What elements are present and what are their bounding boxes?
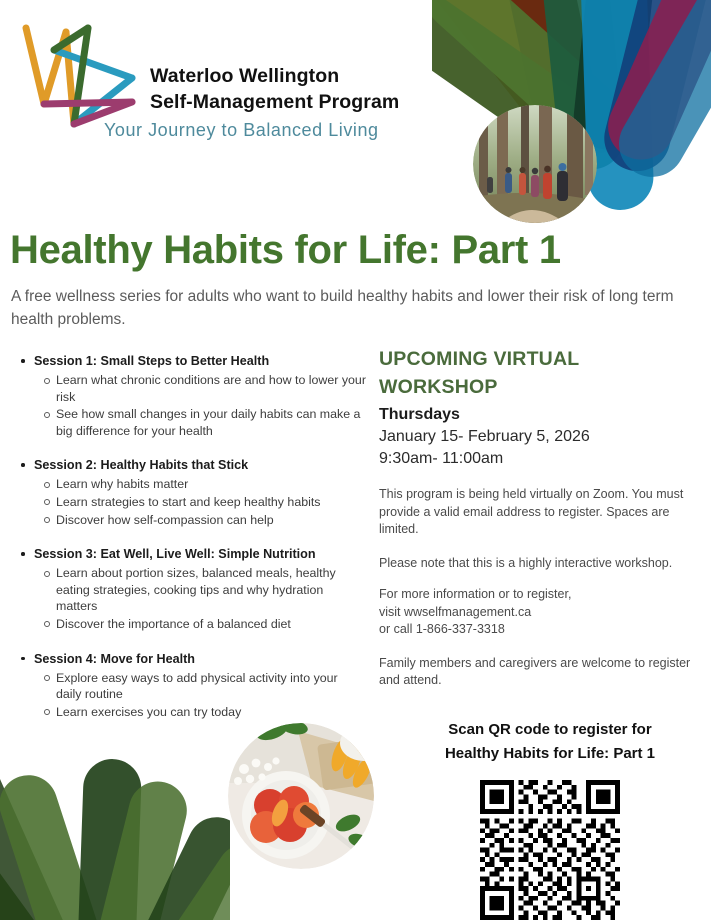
session-item: Session 3: Eat Well, Live Well: Simple N… bbox=[14, 545, 366, 632]
session-item: Session 4: Move for Health Explore easy … bbox=[14, 650, 366, 721]
workshop-family-note: Family members and caregivers are welcom… bbox=[379, 655, 699, 690]
session-item: Session 2: Healthy Habits that Stick Lea… bbox=[14, 456, 366, 528]
workshop-dates: January 15- February 5, 2026 bbox=[379, 426, 699, 448]
session-point: Learn about portion sizes, balanced meal… bbox=[14, 565, 366, 615]
qr-title-line-1: Scan QR code to register for bbox=[400, 718, 700, 742]
bottom-decoration-graphic bbox=[0, 735, 230, 920]
brand-name: Waterloo Wellington Self-Management Prog… bbox=[150, 63, 400, 115]
session-point: Learn exercises you can try today bbox=[14, 704, 366, 721]
workshop-details: UPCOMING VIRTUAL WORKSHOP Thursdays Janu… bbox=[379, 345, 699, 690]
poster: Waterloo Wellington Self-Management Prog… bbox=[0, 0, 711, 920]
session-points: Learn about portion sizes, balanced meal… bbox=[14, 565, 366, 632]
session-point: Discover the importance of a balanced di… bbox=[14, 616, 366, 633]
contact-website[interactable]: visit wwselfmanagement.ca bbox=[379, 604, 699, 622]
brand-tagline: Your Journey to Balanced Living bbox=[104, 120, 379, 141]
session-point: Explore easy ways to add physical activi… bbox=[14, 670, 366, 703]
workshop-contact: For more information or to register, vis… bbox=[379, 586, 699, 639]
session-point: Learn why habits matter bbox=[14, 476, 366, 493]
workshop-interactive-note: Please note that this is a highly intera… bbox=[379, 555, 699, 573]
session-points: Learn what chronic conditions are and ho… bbox=[14, 372, 366, 439]
workshop-heading: UPCOMING VIRTUAL WORKSHOP bbox=[379, 345, 699, 401]
session-points: Explore easy ways to add physical activi… bbox=[14, 670, 366, 721]
workshop-zoom-note: This program is being held virtually on … bbox=[379, 486, 699, 539]
session-list: Session 1: Small Steps to Better Health … bbox=[14, 352, 366, 737]
green-petal-graphic bbox=[0, 735, 230, 920]
session-title: Session 4: Move for Health bbox=[14, 650, 366, 668]
session-point: Learn what chronic conditions are and ho… bbox=[14, 372, 366, 405]
session-title: Session 2: Healthy Habits that Stick bbox=[14, 456, 366, 474]
session-point: Learn strategies to start and keep healt… bbox=[14, 494, 366, 511]
session-points: Learn why habits matter Learn strategies… bbox=[14, 476, 366, 528]
qr-register-block: Scan QR code to register for Healthy Hab… bbox=[400, 718, 700, 920]
hikers-in-forest-photo bbox=[473, 105, 597, 223]
contact-phone[interactable]: or call 1-866-337-3318 bbox=[379, 621, 699, 639]
session-title: Session 1: Small Steps to Better Health bbox=[14, 352, 366, 370]
session-item: Session 1: Small Steps to Better Health … bbox=[14, 352, 366, 439]
contact-line-1: For more information or to register, bbox=[379, 586, 699, 604]
qr-code-icon[interactable] bbox=[480, 780, 620, 920]
qr-title-line-2: Healthy Habits for Life: Part 1 bbox=[400, 742, 700, 766]
page-subtitle: A free wellness series for adults who wa… bbox=[11, 285, 699, 331]
workshop-time: 9:30am- 11:00am bbox=[379, 448, 699, 470]
brand-name-line-2: Self-Management Program bbox=[150, 89, 400, 115]
session-point: See how small changes in your daily habi… bbox=[14, 406, 366, 439]
brand-name-line-1: Waterloo Wellington bbox=[150, 63, 400, 89]
session-point: Discover how self-compassion can help bbox=[14, 512, 366, 529]
workshop-day: Thursdays bbox=[379, 403, 699, 426]
healthy-food-plate-photo bbox=[228, 723, 374, 869]
session-title: Session 3: Eat Well, Live Well: Simple N… bbox=[14, 545, 366, 563]
page-title: Healthy Habits for Life: Part 1 bbox=[10, 226, 700, 274]
